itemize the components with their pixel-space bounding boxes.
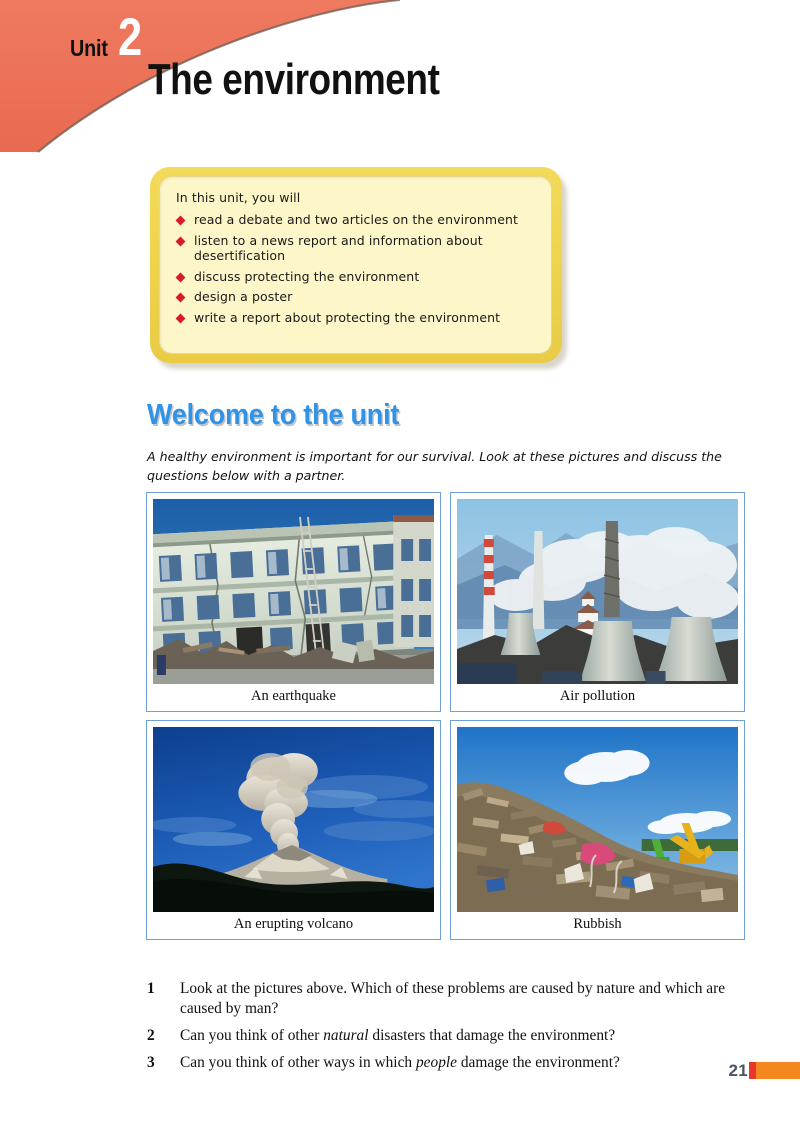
- question-emphasis: people: [416, 1054, 457, 1071]
- objectives-box-border: In this unit, you will read a debate and…: [150, 167, 562, 363]
- section-heading-welcome: Welcome to the unit: [147, 399, 399, 432]
- objective-text: design a poster: [194, 289, 292, 304]
- picture-caption: An erupting volcano: [153, 912, 434, 939]
- list-item: design a poster: [174, 289, 537, 305]
- list-item: discuss protecting the environment: [174, 269, 537, 285]
- unit-number: 2: [118, 11, 142, 64]
- list-item: write a report about protecting the envi…: [174, 310, 537, 326]
- unit-header-banner: Unit 2 The environment: [0, 0, 800, 160]
- picture-grid: An earthquake: [146, 492, 746, 948]
- objectives-list: read a debate and two articles on the en…: [174, 212, 537, 325]
- objectives-intro: In this unit, you will: [176, 190, 537, 205]
- unit-label: Unit: [70, 35, 108, 62]
- earthquake-photo: [153, 499, 434, 684]
- diamond-bullet-icon: [176, 293, 186, 303]
- objectives-box: In this unit, you will read a debate and…: [150, 167, 562, 363]
- diamond-bullet-icon: [176, 216, 186, 226]
- objective-text: listen to a news report and information …: [194, 233, 483, 264]
- picture-card-volcano: An erupting volcano: [146, 720, 441, 940]
- diamond-bullet-icon: [176, 272, 186, 282]
- question-number: 3: [147, 1053, 155, 1073]
- question-number: 1: [147, 979, 155, 999]
- rubbish-photo: [457, 727, 738, 912]
- page-title: The environment: [148, 58, 439, 102]
- list-item: listen to a news report and information …: [174, 233, 537, 264]
- list-item: read a debate and two articles on the en…: [174, 212, 537, 228]
- question-text: Can you think of other ways in which: [180, 1054, 416, 1071]
- picture-frame: [153, 727, 434, 912]
- picture-caption: Rubbish: [457, 912, 738, 939]
- objective-text: write a report about protecting the envi…: [194, 310, 500, 325]
- air-pollution-photo: [457, 499, 738, 684]
- question-text: Can you think of other: [180, 1027, 323, 1044]
- question-number: 2: [147, 1026, 155, 1046]
- picture-card-air-pollution: Air pollution: [450, 492, 745, 712]
- diamond-bullet-icon: [176, 236, 186, 246]
- welcome-intro-text: A healthy environment is important for o…: [147, 447, 755, 485]
- question-item-1: 1 Look at the pictures above. Which of t…: [147, 979, 757, 1019]
- page-number: 21: [728, 1061, 748, 1081]
- question-text-tail: damage the environment?: [457, 1054, 620, 1071]
- picture-card-earthquake: An earthquake: [146, 492, 441, 712]
- question-item-2: 2 Can you think of other natural disaste…: [147, 1026, 757, 1046]
- question-list: 1 Look at the pictures above. Which of t…: [147, 979, 757, 1080]
- question-text: Look at the pictures above. Which of the…: [180, 980, 725, 1017]
- question-emphasis: natural: [323, 1027, 368, 1044]
- volcano-photo: [153, 727, 434, 912]
- footer-red-accent: [749, 1062, 756, 1079]
- footer-orange-bar: [756, 1062, 800, 1079]
- objectives-box-content: In this unit, you will read a debate and…: [159, 176, 552, 354]
- picture-caption: Air pollution: [457, 684, 738, 711]
- picture-card-rubbish: Rubbish: [450, 720, 745, 940]
- picture-caption: An earthquake: [153, 684, 434, 711]
- objective-text: read a debate and two articles on the en…: [194, 212, 518, 227]
- picture-frame: [153, 499, 434, 684]
- question-item-3: 3 Can you think of other ways in which p…: [147, 1053, 757, 1073]
- picture-frame: [457, 499, 738, 684]
- question-text-tail: disasters that damage the environment?: [369, 1027, 616, 1044]
- picture-row-2: An erupting volcano: [146, 720, 746, 940]
- picture-frame: [457, 727, 738, 912]
- diamond-bullet-icon: [176, 313, 186, 323]
- picture-row-1: An earthquake: [146, 492, 746, 712]
- objective-text: discuss protecting the environment: [194, 269, 419, 284]
